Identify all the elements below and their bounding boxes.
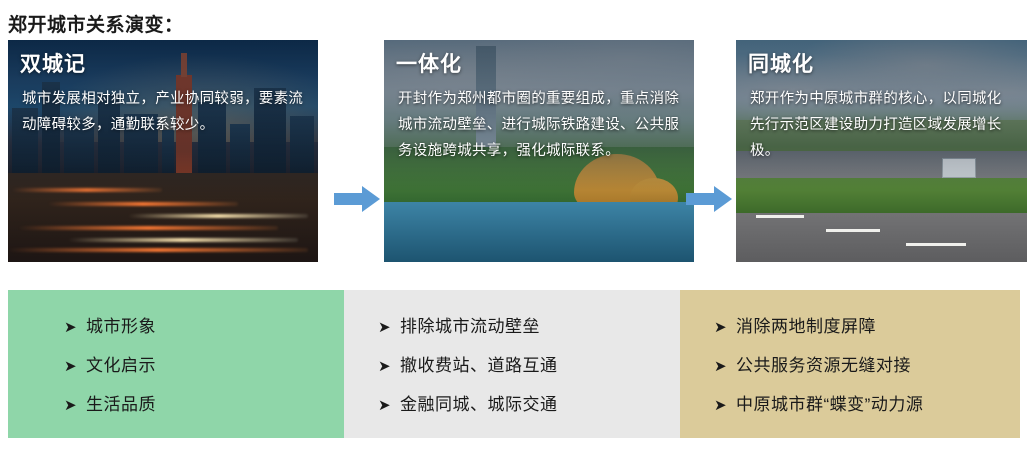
arrow-bullet-icon: ➤ xyxy=(64,357,86,375)
list-item: ➤ 金融同城、城际交通 xyxy=(344,390,680,415)
arrow-stage-1-to-2 xyxy=(334,186,380,212)
list-item-label: 消除两地制度屏障 xyxy=(736,312,876,337)
arrow-bullet-icon: ➤ xyxy=(378,318,400,336)
outcome-band-2: ➤ 排除城市流动壁垒 ➤ 撤收费站、道路互通 ➤ 金融同城、城际交通 xyxy=(344,290,680,438)
arrow-bullet-icon: ➤ xyxy=(378,357,400,375)
list-item: ➤ 生活品质 xyxy=(8,390,344,415)
page-title: 郑开城市关系演变： xyxy=(8,10,184,37)
stage-card-3-heading: 同城化 xyxy=(748,48,814,78)
arrow-bullet-icon: ➤ xyxy=(64,396,86,414)
stage-card-3[interactable]: 同城化 郑开作为中原城市群的核心，以同城化先行示范区建设助力打造区域发展增长极。 xyxy=(736,40,1027,262)
list-item: ➤ 文化启示 xyxy=(8,351,344,376)
stage-card-1[interactable]: 双城记 城市发展相对独立，产业协同较弱，要素流动障碍较多，通勤联系较少。 xyxy=(8,40,318,262)
list-item-label: 公共服务资源无缝对接 xyxy=(736,351,911,376)
list-item: ➤ 中原城市群“蝶变”动力源 xyxy=(680,390,1020,415)
list-item-label: 撤收费站、道路互通 xyxy=(400,351,558,376)
list-item: ➤ 消除两地制度屏障 xyxy=(680,312,1020,337)
stage-card-3-body: 郑开作为中原城市群的核心，以同城化先行示范区建设助力打造区域发展增长极。 xyxy=(750,86,1016,164)
list-item: ➤ 排除城市流动壁垒 xyxy=(344,312,680,337)
stage-card-2-heading: 一体化 xyxy=(396,48,462,78)
outcome-band-1: ➤ 城市形象 ➤ 文化启示 ➤ 生活品质 xyxy=(8,290,344,438)
list-item-label: 金融同城、城际交通 xyxy=(400,390,558,415)
arrow-bullet-icon: ➤ xyxy=(714,396,736,414)
arrow-bullet-icon: ➤ xyxy=(714,357,736,375)
list-item: ➤ 公共服务资源无缝对接 xyxy=(680,351,1020,376)
arrow-bullet-icon: ➤ xyxy=(714,318,736,336)
list-item-label: 文化启示 xyxy=(86,351,156,376)
arrow-bullet-icon: ➤ xyxy=(64,318,86,336)
stage-card-2[interactable]: 一体化 开封作为郑州都市圈的重要组成，重点消除城市流动壁垒、进行城际铁路建设、公… xyxy=(384,40,694,262)
arrow-bullet-icon: ➤ xyxy=(378,396,400,414)
slide-root: 郑开城市关系演变： xyxy=(0,0,1027,449)
stage-card-1-heading: 双城记 xyxy=(20,48,86,78)
stage-cards-row: 双城记 城市发展相对独立，产业协同较弱，要素流动障碍较多，通勤联系较少。 一体化… xyxy=(8,40,1020,262)
stage-card-2-body: 开封作为郑州都市圈的重要组成，重点消除城市流动壁垒、进行城际铁路建设、公共服务设… xyxy=(398,86,682,164)
list-item-label: 排除城市流动壁垒 xyxy=(400,312,540,337)
outcome-bands-row: ➤ 城市形象 ➤ 文化启示 ➤ 生活品质 ➤ 排除城市流动壁垒 ➤ 撤收费站、道… xyxy=(8,290,1020,438)
arrow-stage-2-to-3 xyxy=(686,186,732,212)
outcome-band-3: ➤ 消除两地制度屏障 ➤ 公共服务资源无缝对接 ➤ 中原城市群“蝶变”动力源 xyxy=(680,290,1020,438)
list-item-label: 生活品质 xyxy=(86,390,156,415)
stage-card-1-body: 城市发展相对独立，产业协同较弱，要素流动障碍较多，通勤联系较少。 xyxy=(22,86,306,138)
list-item-label: 城市形象 xyxy=(86,312,156,337)
list-item: ➤ 城市形象 xyxy=(8,312,344,337)
list-item-label: 中原城市群“蝶变”动力源 xyxy=(736,390,923,415)
list-item: ➤ 撤收费站、道路互通 xyxy=(344,351,680,376)
